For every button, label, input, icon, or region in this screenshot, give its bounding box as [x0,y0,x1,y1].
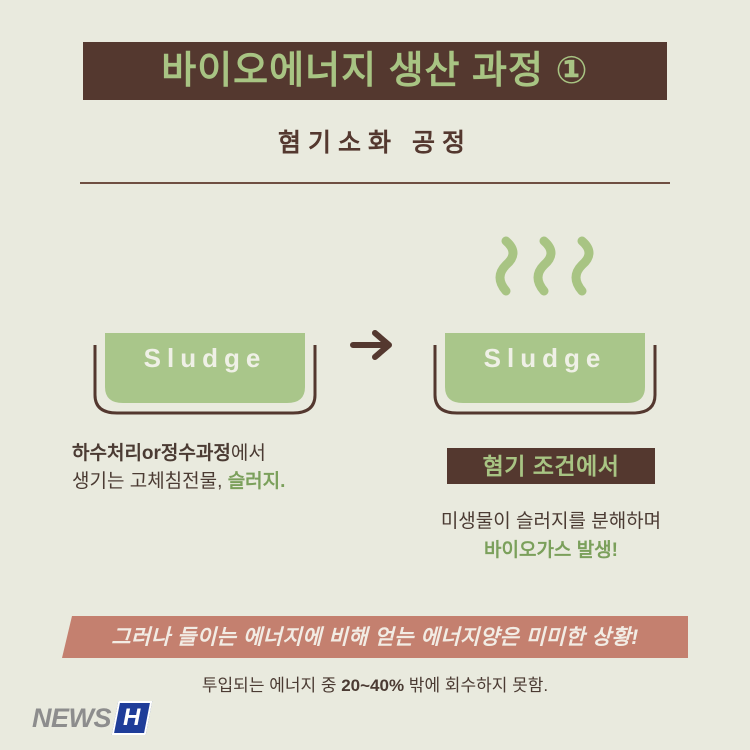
caption-before-line2-rest: 생기는 고체침전물, [72,471,228,492]
caption-after-line2: 바이오가스 발생! [385,537,717,566]
header-divider [80,182,670,184]
tank-after: Sludge [415,285,675,475]
logo-wordmark: NEWS [32,705,111,732]
arrow-right-icon [345,325,405,365]
process-diagram: Sludge Sludge [0,230,750,430]
footnote: 투입되는 에너지 중 20~40% 밖에 회수하지 못함. [0,676,750,696]
caption-before-line1-bold: 하수처리or정수과정 [72,443,231,464]
tank-vessel-icon [75,285,335,425]
news-h-logo[interactable]: NEWS H [32,700,149,736]
summary-banner-text: 그러나 들이는 에너지에 비해 얻는 에너지양은 미미한 상황! [111,627,639,648]
page-subtitle: 혐기소화 공정 [0,128,750,158]
summary-banner: 그러나 들이는 에너지에 비해 얻는 에너지양은 미미한 상황! [62,616,688,658]
logo-mark-letter: H [123,706,140,730]
footnote-highlight: 20~40% [341,676,404,695]
caption-before: 하수처리or정수과정에서 생기는 고체침전물, 슬러지. [72,440,352,495]
status-badge-label: 혐기 조건에서 [483,455,620,478]
caption-after: 미생물이 슬러지를 분해하며 바이오가스 발생! [385,508,717,565]
logo-mark-icon: H [112,701,153,735]
title-bar: 바이오에너지 생산 과정 ① [83,42,667,100]
caption-before-line1: 하수처리or정수과정에서 [72,440,352,468]
caption-before-line2: 생기는 고체침전물, 슬러지. [72,468,352,496]
page-title: 바이오에너지 생산 과정 ① [161,52,588,90]
footnote-suffix: 밖에 회수하지 못함. [404,676,548,695]
infographic-page: 바이오에너지 생산 과정 ① 혐기소화 공정 Sludge [0,0,750,750]
caption-after-line1: 미생물이 슬러지를 분해하며 [385,508,717,537]
tank-vessel-icon [415,285,675,425]
footnote-prefix: 투입되는 에너지 중 [202,676,341,695]
status-badge: 혐기 조건에서 [447,448,655,484]
caption-before-line1-rest: 에서 [231,443,266,464]
caption-before-line2-green: 슬러지. [228,471,286,492]
